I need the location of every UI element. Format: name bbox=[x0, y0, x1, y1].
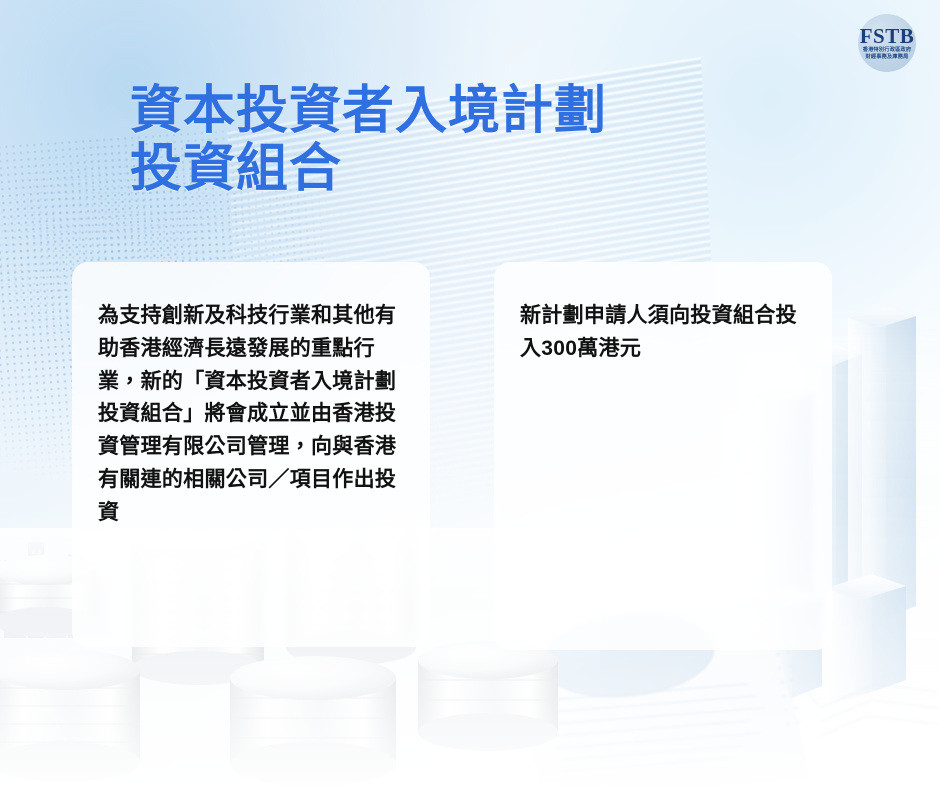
page-title-line-1: 資本投資者入境計劃 bbox=[130, 82, 607, 140]
page-title-line-2: 投資組合 bbox=[130, 140, 342, 198]
logo-acronym: FSTB bbox=[860, 26, 915, 47]
fstb-logo: FSTB 香港特別行政區政府 財經事務及庫務局 bbox=[850, 12, 924, 74]
page-title: 資本投資者入境計劃投資組合 bbox=[130, 82, 607, 198]
content-card-left: 為支持創新及科技行業和其他有助香港經濟長遠發展的重點行業，新的「資本投資者入境計… bbox=[72, 262, 430, 647]
logo-subtitle-line1: 香港特別行政區政府 bbox=[860, 48, 915, 53]
logo-text-group: FSTB 香港特別行政區政府 財經事務及庫務局 bbox=[860, 26, 915, 60]
content-card-left-text: 為支持創新及科技行業和其他有助香港經濟長遠發展的重點行業，新的「資本投資者入境計… bbox=[98, 300, 404, 529]
content-card-right: 新計劃申請人須向投資組合投入300萬港元 bbox=[494, 262, 832, 650]
presentation-slide: FSTB 香港特別行政區政府 財經事務及庫務局 資本投資者入境計劃投資組合 為支… bbox=[0, 0, 940, 788]
content-card-right-text: 新計劃申請人須向投資組合投入300萬港元 bbox=[520, 300, 806, 366]
logo-subtitle-line2: 財經事務及庫務局 bbox=[860, 55, 915, 60]
content-card-group: 為支持創新及科技行業和其他有助香港經濟長遠發展的重點行業，新的「資本投資者入境計… bbox=[0, 262, 940, 662]
